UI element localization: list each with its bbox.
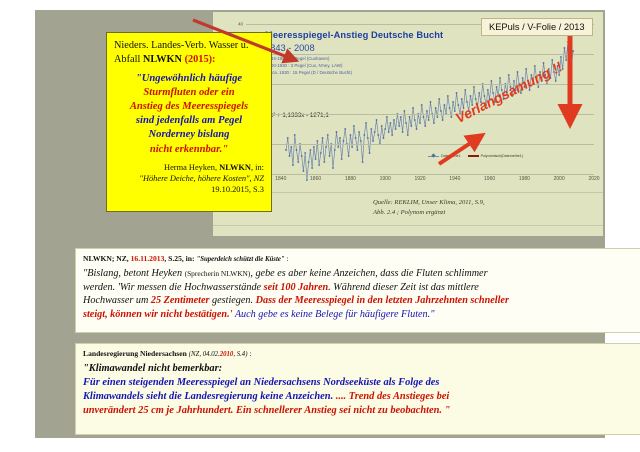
gridline xyxy=(246,174,594,175)
box2-l3-red2: Dass der Meeresspiegel in den letzten Ja… xyxy=(256,295,509,306)
attrib-org: NLWKN xyxy=(219,163,251,172)
box2-header: NLWKN; NZ, 16.11.2013, S.25, in: "Superd… xyxy=(83,254,635,265)
x-axis-tick: 1860 xyxy=(310,176,321,182)
text-box-landesregierung: Landesregierung Niedersachsen (NZ, 04.02… xyxy=(75,343,640,435)
arrow-down-red-icon xyxy=(555,34,585,134)
box2-line-2: werden. 'Wir messen die Hochwasserstände… xyxy=(83,281,635,295)
box2-line-4: steigt, können wir nicht bestätigen.' Au… xyxy=(83,308,635,322)
x-axis-tick: 2000 xyxy=(554,176,565,182)
box2-l2-red: seit 100 Jahren xyxy=(264,282,329,293)
attrib-line-2: "Höhere Deiche, höhere Kosten", NZ xyxy=(139,174,264,183)
box2-line-3: Hochwasser um 25 Zentimeter gestiegen. D… xyxy=(83,294,635,308)
box2-l4-red: steigt, können wir nicht bestätigen.' xyxy=(83,309,232,320)
box3-line-1: "Klimawandel nicht bemerkbar: xyxy=(83,362,635,376)
source-org: NLWKN xyxy=(143,54,185,65)
gridline xyxy=(246,114,594,115)
quote-line-5: nicht erkennbar." xyxy=(114,143,264,157)
box3-header-org: Landesregierung Niedersachsen xyxy=(83,349,189,358)
box2-header-page: , S.25, in: xyxy=(164,254,196,263)
box2-line-1: "Bislang, betont Heyken (Sprecherin NLWK… xyxy=(83,267,635,281)
attrib-line-1: Herma Heyken, NLWKN, in: xyxy=(114,162,264,173)
box2-l3b: gestiegen. xyxy=(210,295,256,306)
box2-header-title: "Superdeich schützt die Küste" xyxy=(196,256,284,263)
box3-line-3: Klimawandels sieht die Landesregierung k… xyxy=(83,390,635,404)
x-axis-tick: 2020 xyxy=(588,176,599,182)
source-line-2-prefix: Abfall xyxy=(114,54,143,65)
box2-l4-blue: Auch gebe es keine Belege für häufigere … xyxy=(232,309,434,320)
box2-l3a: Hochwasser um xyxy=(83,295,151,306)
attrib-line-3: 19.10.2015, S.3 xyxy=(114,184,264,195)
quote-line-3: sind jedenfalls am Pegel xyxy=(114,114,264,128)
box2-header-org: NLWKN; NZ, xyxy=(83,254,131,263)
x-axis-tick: 1980 xyxy=(519,176,530,182)
box2-l2b: . Während dieser Zeit ist das mittlere xyxy=(328,282,479,293)
box3-l3-red: .... Trend des Anstieges bei xyxy=(336,391,450,402)
quote-line-0: "Ungewöhnlich häufige xyxy=(114,72,264,86)
box2-l2a: werden. 'Wir messen die Hochwasserstände xyxy=(83,282,264,293)
box3-body: "Klimawandel nicht bemerkbar: Für einen … xyxy=(83,362,635,419)
x-axis-tick: 1840 xyxy=(275,176,286,182)
chart-source-note: Quelle: REKLIM, Unser Klima, 2011, S.9, … xyxy=(373,198,485,218)
x-axis-tick: 1920 xyxy=(414,176,425,182)
box3-l3-blue: Klimawandels sieht die Landesregierung k… xyxy=(83,391,336,402)
box3-line-2: Für einen steigenden Meeresspiegel an Ni… xyxy=(83,376,635,390)
text-box-nlwkn-2013: NLWKN; NZ, 16.11.2013, S.25, in: "Superd… xyxy=(75,248,640,333)
box3-header-date: 2010 xyxy=(220,351,234,358)
box2-l1a: "Bislang, betont Heyken xyxy=(83,268,185,279)
box3-line-4: unverändert 25 cm je Jahrhundert. Ein sc… xyxy=(83,404,635,418)
gridline xyxy=(246,144,594,145)
x-axis-tick: 1940 xyxy=(449,176,460,182)
source-note-line2: Abb. 2.4 ; Polynom ergänzt xyxy=(373,208,485,218)
data-series-line xyxy=(286,42,573,180)
attrib-name: Herma Heyken, xyxy=(164,163,219,172)
box2-l1b: , gebe es aber keine Anzeichen, dass die… xyxy=(250,268,487,279)
slide-canvas: cm Meeresspiegel-Anstieg Deutsche Bucht … xyxy=(35,10,605,438)
box3-header-page: , S.4) xyxy=(233,351,247,358)
x-axis-tick: 1880 xyxy=(345,176,356,182)
chart-separator-bottom xyxy=(213,225,603,226)
box3-header-colon: : xyxy=(247,349,251,358)
x-axis-tick: 1900 xyxy=(380,176,391,182)
box2-body: "Bislang, betont Heyken (Sprecherin NLWK… xyxy=(83,267,635,322)
quote-line-2: Anstieg des Meeresspiegels xyxy=(114,100,264,114)
x-axis-tick: 1960 xyxy=(484,176,495,182)
quote-line-4: Norderney bislang xyxy=(114,128,264,142)
source-note-line1: Quelle: REKLIM, Unser Klima, 2011, S.9, xyxy=(373,198,485,208)
box3-header-src: (NZ, 04.02. xyxy=(189,351,220,358)
box2-l1-speaker: (Sprecherin NLWKN) xyxy=(185,269,251,278)
quote-line-1: Sturmfluten oder ein xyxy=(114,86,264,100)
quote-attribution: Herma Heyken, NLWKN, in: "Höhere Deiche,… xyxy=(114,162,264,196)
box2-header-date: 16.11.2013 xyxy=(131,254,165,263)
arrow-to-chart-title-icon xyxy=(191,18,311,66)
quote-text: "Ungewöhnlich häufige Sturmfluten oder e… xyxy=(114,72,264,156)
arrow-verlangsamung-icon xyxy=(435,128,495,170)
box2-l3-red1: 25 Zentimeter xyxy=(151,295,210,306)
box3-header: Landesregierung Niedersachsen (NZ, 04.02… xyxy=(83,349,635,360)
attrib-in: , in: xyxy=(251,163,264,172)
box2-header-colon: : xyxy=(285,254,289,263)
